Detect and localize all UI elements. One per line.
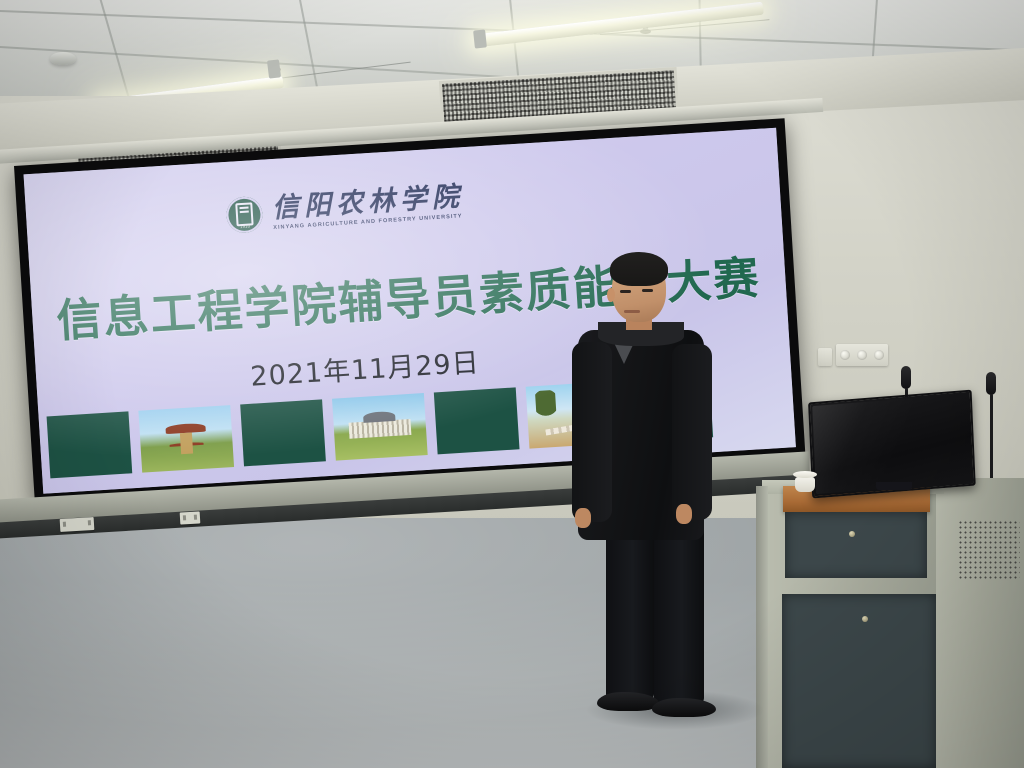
presenter-mouth <box>624 310 640 313</box>
presenter-eye-left <box>620 290 631 293</box>
presenter-ear <box>607 288 615 302</box>
classroom-photo-scene: A man in a dark jacket stands in a class… <box>0 0 1024 768</box>
presenter-shoe-right <box>652 698 716 717</box>
presenter-leg-left <box>606 520 654 700</box>
presenter-hand-right <box>676 504 692 524</box>
presenter-arm-right <box>672 344 712 520</box>
presenter-hair <box>610 252 668 286</box>
presenter-leg-right <box>654 520 704 704</box>
presenter-eye-right <box>642 289 653 292</box>
presenter-hand-left <box>575 508 591 528</box>
presenter-arm-left <box>572 342 612 522</box>
presenter <box>0 0 1024 768</box>
presenter-shoe-left <box>597 692 659 711</box>
